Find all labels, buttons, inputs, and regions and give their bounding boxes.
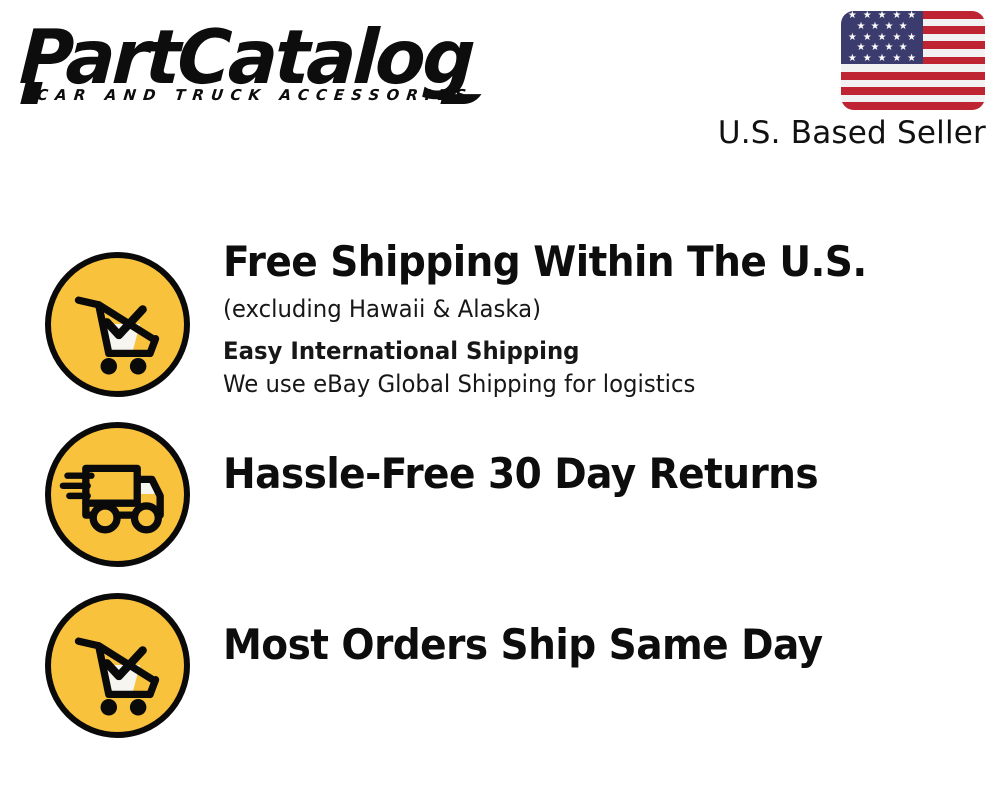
feature-sub-text: We use eBay Global Shipping for logistic… <box>223 369 952 400</box>
feature-note: (excluding Hawaii & Alaska) <box>223 294 952 325</box>
us-flag-icon: ★★★★★ ★★★★ ★★★★★ ★★★★ ★★★★★ <box>841 11 985 110</box>
feature-headline: Hassle-Free 30 Day Returns <box>223 450 936 498</box>
feature-row: Hassle-Free 30 Day Returns <box>0 406 1000 578</box>
feature-text-block: Hassle-Free 30 Day Returns <box>223 450 990 498</box>
feature-row: Most Orders Ship Same Day <box>0 577 1000 749</box>
feature-headline: Free Shipping Within The U.S. <box>223 238 936 286</box>
shopping-cart-check-icon <box>45 593 190 738</box>
shopping-cart-check-icon <box>45 252 190 397</box>
brand-wordmark: PartCatalog <box>18 18 483 96</box>
feature-text-block: Most Orders Ship Same Day <box>223 621 990 669</box>
feature-text-block: Free Shipping Within The U.S. (excluding… <box>223 238 990 406</box>
feature-sub-title: Easy International Shipping <box>223 336 952 367</box>
brand-tagline: CAR AND TRUCK ACCESSORIES <box>36 86 474 104</box>
delivery-truck-icon <box>45 422 190 567</box>
feature-row: Free Shipping Within The U.S. (excluding… <box>0 236 1000 408</box>
us-based-seller-label: U.S. Based Seller <box>718 114 986 152</box>
feature-headline: Most Orders Ship Same Day <box>223 621 936 669</box>
flag-canton: ★★★★★ ★★★★ ★★★★★ ★★★★ ★★★★★ <box>841 11 923 64</box>
